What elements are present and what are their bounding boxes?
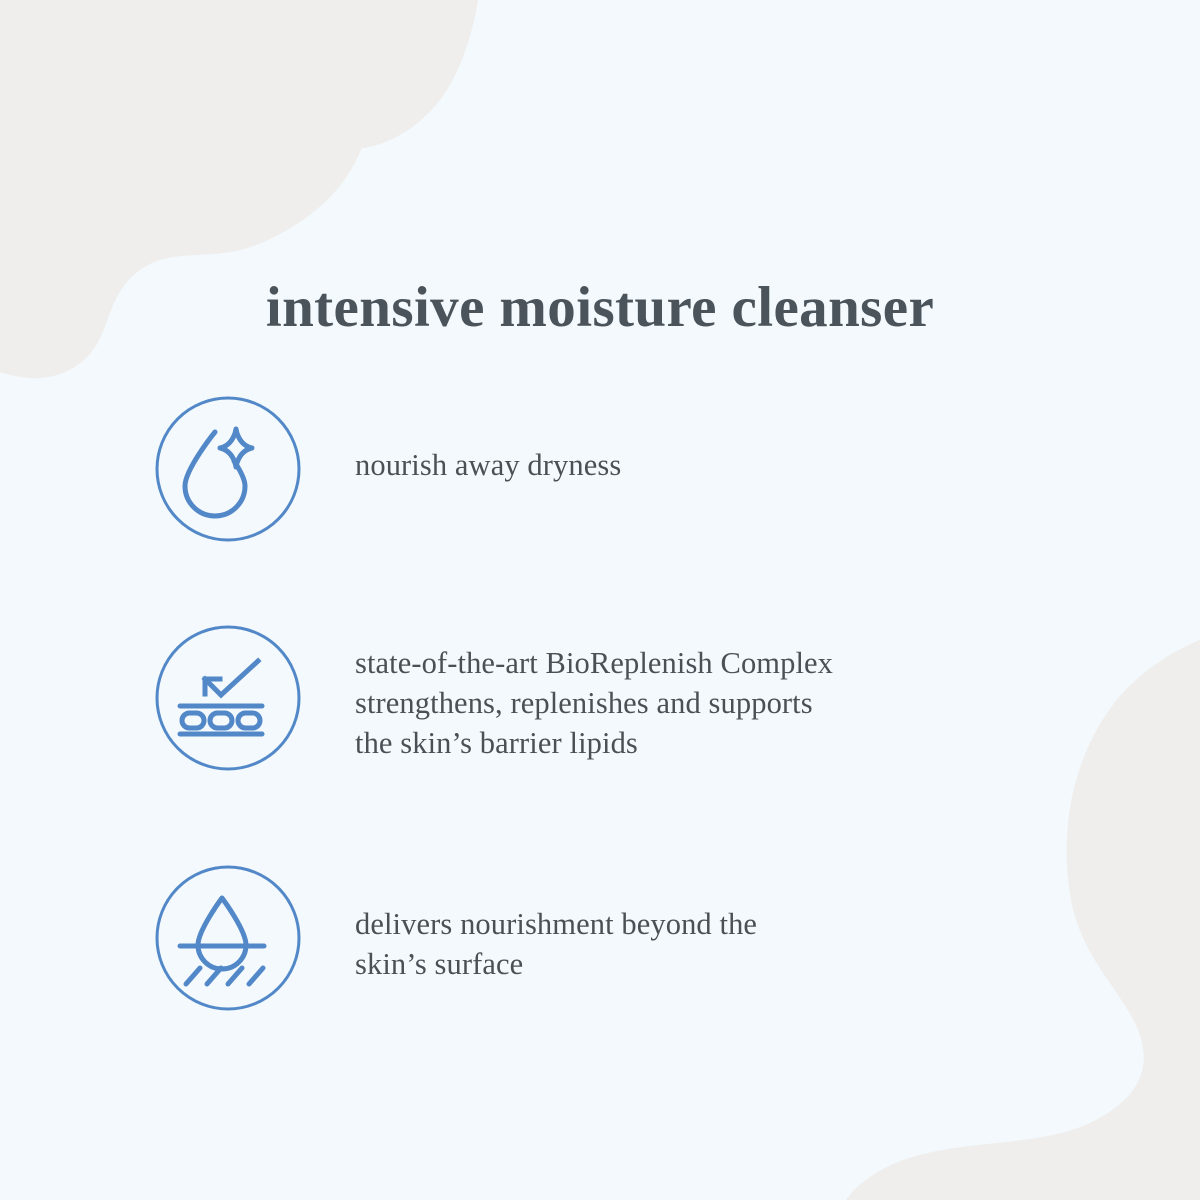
feature-text-line: strengthens, replenishes and supports (355, 683, 833, 723)
feature-item-delivery: delivers nourishment beyond the skin’s s… (152, 862, 757, 1014)
feature-text-nourish: nourish away dryness (304, 393, 621, 485)
feature-text-line: skin’s surface (355, 944, 757, 984)
droplet-penetration-icon (152, 862, 304, 1014)
feature-list: nourish away dryness (0, 0, 1200, 1200)
feature-item-nourish: nourish away dryness (152, 393, 621, 545)
feature-text-barrier: state-of-the-art BioReplenish Complex st… (304, 622, 833, 763)
feature-text-delivery: delivers nourishment beyond the skin’s s… (304, 862, 757, 984)
skin-barrier-check-icon (152, 622, 304, 774)
product-benefits-card: intensive moisture cleanser nourish away… (0, 0, 1200, 1200)
feature-text-line: delivers nourishment beyond the (355, 904, 757, 944)
feature-item-barrier: state-of-the-art BioReplenish Complex st… (152, 622, 833, 774)
feature-text-line: nourish away dryness (355, 445, 621, 485)
feature-text-line: state-of-the-art BioReplenish Complex (355, 643, 833, 683)
feature-text-line: the skin’s barrier lipids (355, 723, 833, 763)
droplet-sparkle-icon (152, 393, 304, 545)
